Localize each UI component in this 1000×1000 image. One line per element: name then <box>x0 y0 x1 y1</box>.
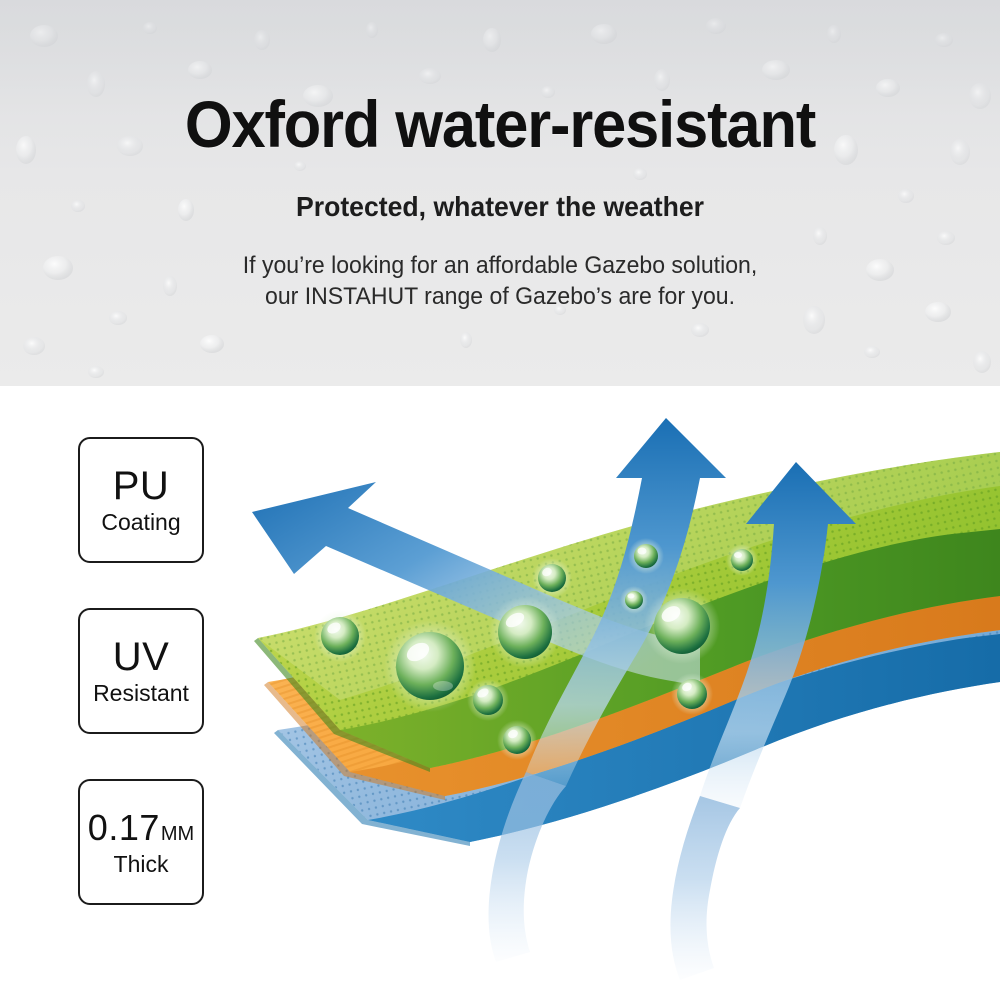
header-band: Oxford water-resistant Protected, whatev… <box>0 0 1000 386</box>
badge-value: 0.17 MM <box>88 807 194 849</box>
badge-value-text: PU <box>113 465 170 507</box>
badge-value-text: 0.17 <box>88 807 160 849</box>
badge-value-text: UV <box>113 636 170 678</box>
badge-value: UV <box>113 636 170 678</box>
droplet <box>644 588 720 664</box>
fabric-layers-diagram <box>230 400 1000 1000</box>
droplet <box>671 673 713 715</box>
badge-label: Thick <box>114 851 169 877</box>
droplet <box>620 586 648 614</box>
feature-badge-pu-coating: PU Coating <box>78 437 204 563</box>
droplet <box>467 679 509 721</box>
feature-badge-thickness: 0.17 MM Thick <box>78 779 204 905</box>
description-line-1: If you’re looking for an affordable Gaze… <box>20 250 980 281</box>
header-description: If you’re looking for an affordable Gaze… <box>20 250 980 312</box>
droplet <box>384 620 476 712</box>
droplet <box>497 720 537 760</box>
feature-badge-uv-resistant: UV Resistant <box>78 608 204 734</box>
badge-unit-text: MM <box>161 824 194 844</box>
droplet <box>628 538 664 574</box>
page-title: Oxford water-resistant <box>35 91 965 157</box>
badge-label: Resistant <box>93 680 189 706</box>
droplet <box>314 610 366 662</box>
badge-value: PU <box>113 465 170 507</box>
product-feature-banner: Oxford water-resistant Protected, whatev… <box>0 0 1000 1000</box>
droplet <box>532 558 572 598</box>
page-subtitle: Protected, whatever the weather <box>25 191 975 223</box>
droplet <box>726 544 758 576</box>
badge-label: Coating <box>101 509 180 535</box>
description-line-2: our INSTAHUT range of Gazebo’s are for y… <box>20 281 980 312</box>
droplet <box>489 596 561 668</box>
